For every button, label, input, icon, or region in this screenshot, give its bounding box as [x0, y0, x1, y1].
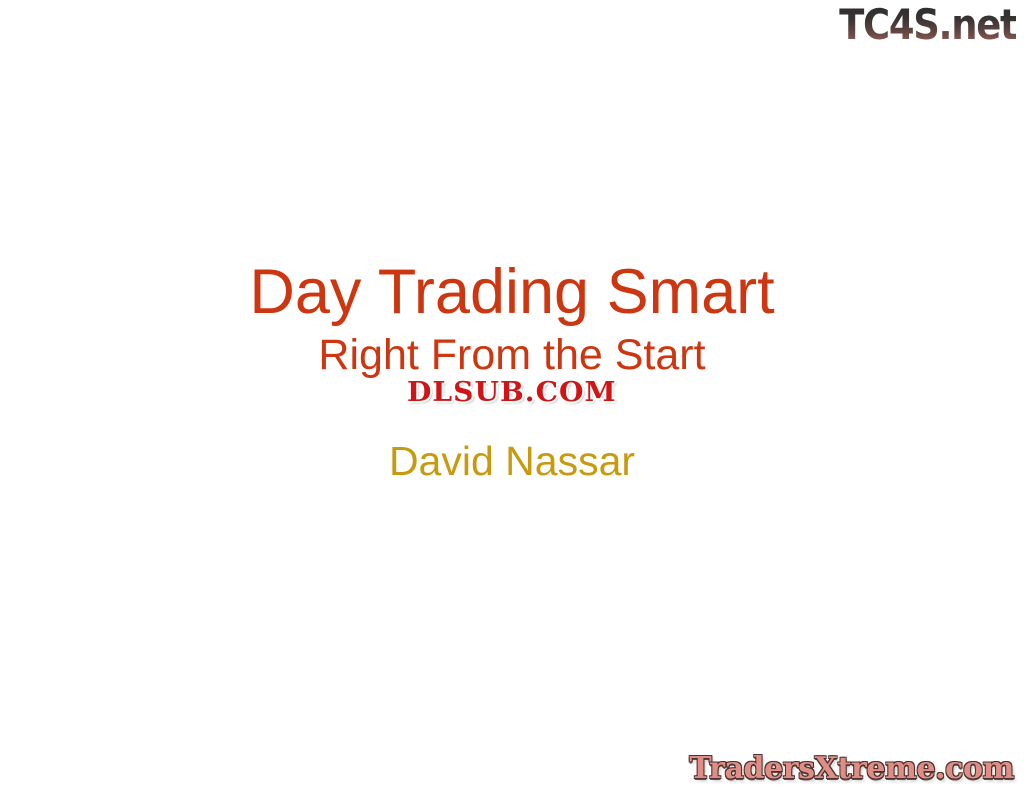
page-title: Day Trading Smart — [0, 256, 1024, 328]
tradersxtreme-watermark: TradersXtreme.com — [689, 752, 1014, 786]
dlsub-watermark-label: DLSUB.COM — [401, 378, 623, 409]
tc4s-logo: TC4S.net — [839, 2, 1016, 48]
presentation-slide: TC4S.net Day Trading Smart Right From th… — [0, 0, 1024, 791]
page-subtitle: Right From the Start — [0, 330, 1024, 380]
dlsub-watermark: DLSUB.COM — [0, 378, 1024, 409]
author-name: David Nassar — [0, 437, 1024, 485]
